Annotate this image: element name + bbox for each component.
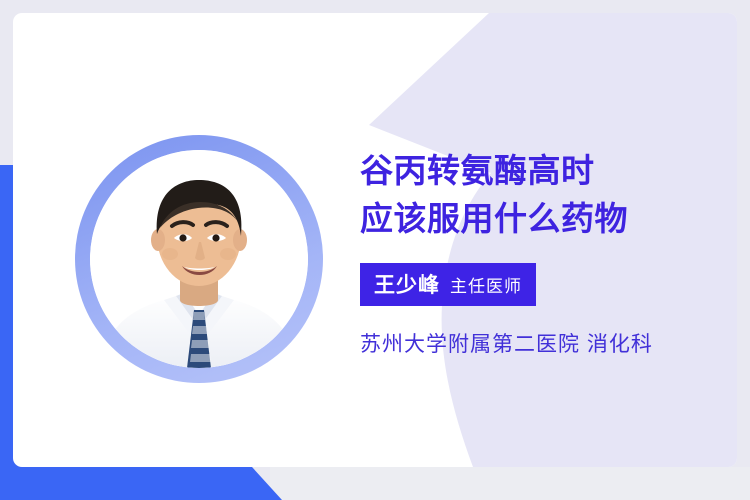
doctor-photo [75,135,323,383]
doctor-name: 王少峰 [374,274,440,297]
page-title-line-1: 谷丙转氨酶高时 [360,147,730,195]
poster-canvas: 谷丙转氨酶高时 应该服用什么药物 王少峰主任医师 苏州大学附属第二医院 消化科 [0,0,750,500]
doctor-title: 主任医师 [450,277,522,296]
doctor-affiliation: 苏州大学附属第二医院 消化科 [360,328,730,358]
photo-inner [90,150,308,368]
accent-bar-bottom [0,467,282,500]
content-card: 谷丙转氨酶高时 应该服用什么药物 王少峰主任医师 苏州大学附属第二医院 消化科 [13,13,737,467]
text-block: 谷丙转氨酶高时 应该服用什么药物 王少峰主任医师 苏州大学附属第二医院 消化科 [360,147,730,358]
doctor-badge: 王少峰主任医师 [360,263,536,306]
doctor-portrait-icon [90,150,308,368]
page-title-line-2: 应该服用什么药物 [360,195,730,243]
bottom-gray-strip [270,467,750,500]
